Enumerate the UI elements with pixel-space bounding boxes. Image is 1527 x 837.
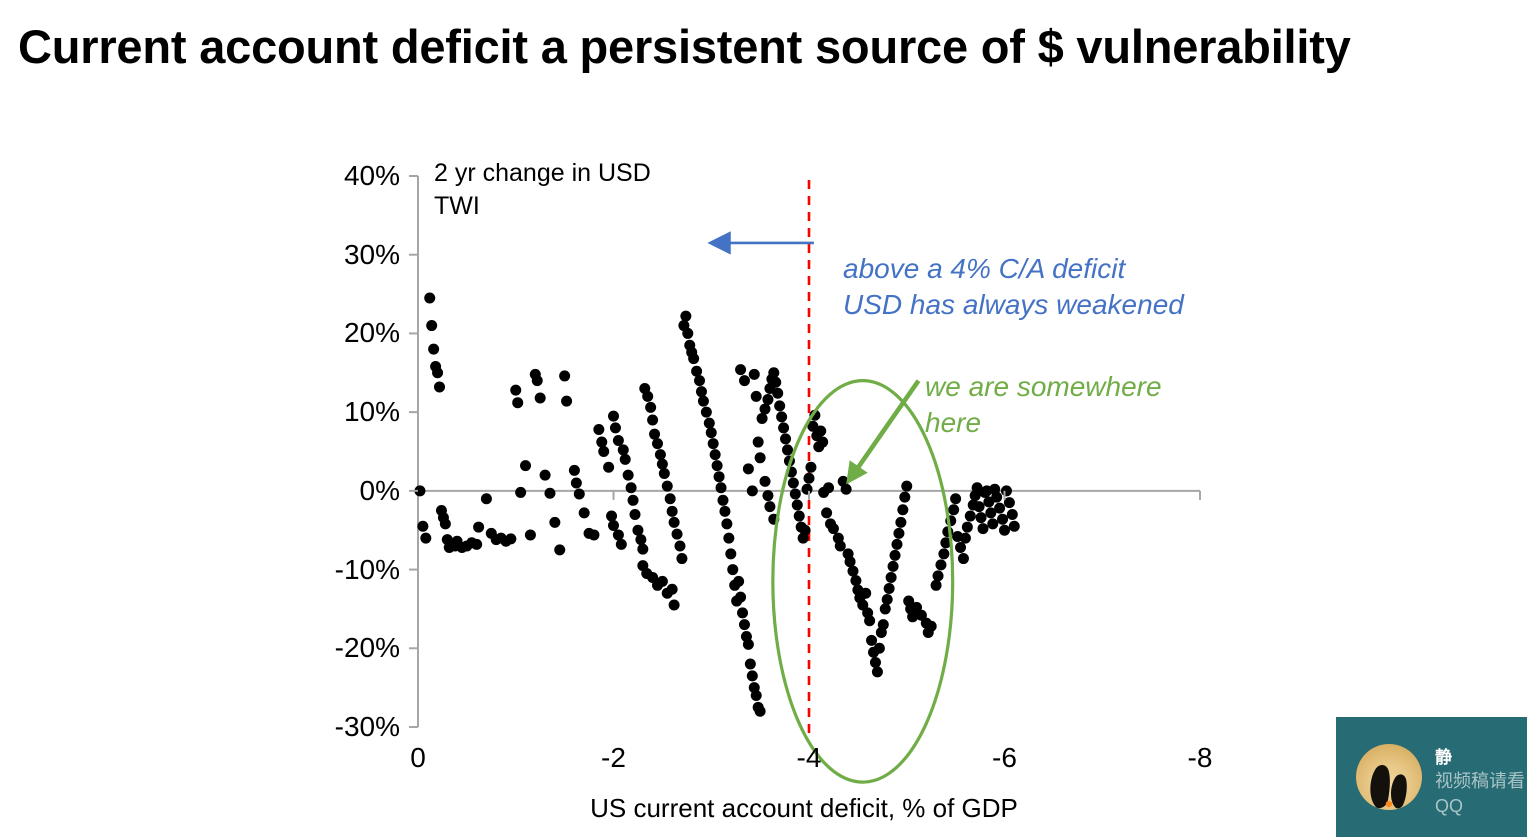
y-axis-title: 2 yr change in USD TWI bbox=[434, 157, 664, 223]
scatter-points bbox=[414, 293, 1019, 717]
highlight-ellipse bbox=[773, 381, 953, 782]
x-tick-label: -2 bbox=[579, 744, 649, 772]
x-tick-label: 0 bbox=[383, 744, 453, 772]
watermark-platform: QQ bbox=[1435, 797, 1463, 815]
avatar bbox=[1356, 744, 1422, 810]
y-tick-label: 30% bbox=[316, 241, 400, 269]
x-tick-label: -4 bbox=[774, 744, 844, 772]
annotation-above-4pct: above a 4% C/A deficit USD has always we… bbox=[843, 251, 1184, 323]
slide-root: Current account deficit a persistent sou… bbox=[0, 0, 1527, 837]
annotation-we-are-here: we are somewhere here bbox=[925, 369, 1162, 441]
y-tick-label: 10% bbox=[316, 398, 400, 426]
x-tick-label: -6 bbox=[970, 744, 1040, 772]
y-tick-label: 0% bbox=[316, 477, 400, 505]
y-tick-label: -20% bbox=[316, 634, 400, 662]
watermark-username: 静 bbox=[1435, 749, 1452, 766]
y-tick-label: -10% bbox=[316, 556, 400, 584]
x-tick-label: -8 bbox=[1165, 744, 1235, 772]
y-tick-label: -30% bbox=[316, 713, 400, 741]
y-tick-label: 20% bbox=[316, 319, 400, 347]
x-axis-title: US current account deficit, % of GDP bbox=[404, 793, 1204, 824]
penguin-icon bbox=[1356, 744, 1422, 810]
watermark-subtitle: 视频稿请看 bbox=[1435, 771, 1525, 792]
watermark-card: 静 视频稿请看 QQ bbox=[1336, 717, 1527, 837]
scatter-chart: 40%30%20%10%0%-10%-20%-30% 0-2-4-6-8 2 y… bbox=[0, 0, 1527, 837]
plot-canvas bbox=[0, 0, 1527, 837]
y-tick-label: 40% bbox=[316, 162, 400, 190]
